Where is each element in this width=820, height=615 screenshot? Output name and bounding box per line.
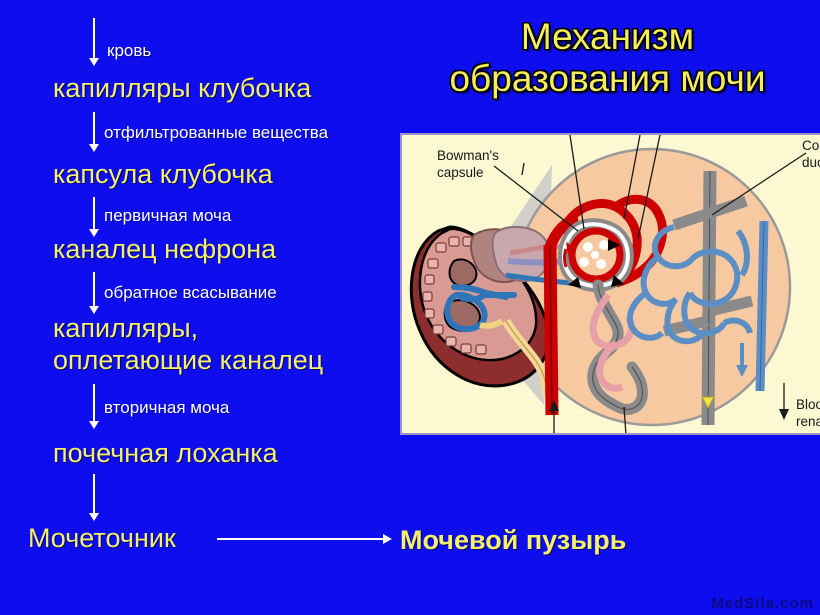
flow-arrow-to-bladder [217, 533, 392, 545]
edge-label-blood: кровь [107, 41, 151, 61]
flow-arrow-reabsorption [88, 272, 100, 314]
arrow-shaft [93, 197, 95, 230]
arrow-shaft [93, 474, 95, 514]
diagram-label-blood-renal-line1: Bloo [796, 397, 820, 413]
node-renal-pelvis: почечная лоханка [53, 438, 278, 468]
arrow-shaft [93, 18, 95, 59]
edge-label-primary-urine: первичная моча [104, 206, 231, 226]
node-bladder: Мочевой пузырь [400, 525, 626, 555]
edge-label-filtered-substances: отфильтрованные вещества [104, 123, 328, 143]
node-glomerular-capsule: капсула клубочка [53, 159, 273, 189]
diagram-label-collecting-duct-line1: Col [802, 138, 820, 154]
page-title-line-2: образования мочи [400, 58, 815, 100]
diagram-label-blood-renal-line2: rena [796, 414, 820, 430]
node-nephron-tubule: каналец нефрона [53, 234, 276, 264]
arrow-head [383, 534, 392, 544]
flow-arrow-secondary-urine [88, 384, 100, 429]
arrow-shaft [93, 384, 95, 422]
watermark: MedSila.com [711, 595, 814, 612]
slide-canvas: Механизм образования мочи кровь капилляр… [0, 0, 820, 615]
edge-label-reabsorption: обратное всасывание [104, 283, 277, 303]
arrow-head [89, 421, 99, 429]
page-title-line-1: Механизм [400, 16, 815, 58]
diagram-label-bowmans-capsule-line1: Bowman's [437, 148, 499, 164]
nephron-diagram: Bowman's capsule Col duc Bloo rena [400, 133, 820, 435]
node-peritubular-capillaries-line2: оплетающие каналец [53, 345, 323, 375]
arrow-head [89, 513, 99, 521]
diagram-label-collecting-duct-line2: duc [802, 155, 820, 171]
arrow-shaft [93, 112, 95, 145]
node-ureter: Мочеточник [28, 523, 176, 553]
arrow-head [89, 144, 99, 152]
edge-label-secondary-urine: вторичная моча [104, 398, 229, 418]
flow-arrow-primary-urine [88, 197, 100, 237]
arrow-shaft [93, 272, 95, 307]
diagram-label-bowmans-capsule-line2: capsule [437, 165, 484, 181]
flow-arrow-filtered-substances [88, 112, 100, 152]
arrow-shaft [217, 538, 384, 540]
flow-arrow-to-ureter [88, 474, 100, 521]
arrow-head [89, 58, 99, 66]
node-peritubular-capillaries-line1: капилляры, [53, 313, 198, 343]
page-title: Механизм образования мочи [400, 16, 815, 100]
node-glomerular-capillaries: капилляры клубочка [53, 73, 311, 103]
flow-arrow-blood [88, 18, 100, 66]
